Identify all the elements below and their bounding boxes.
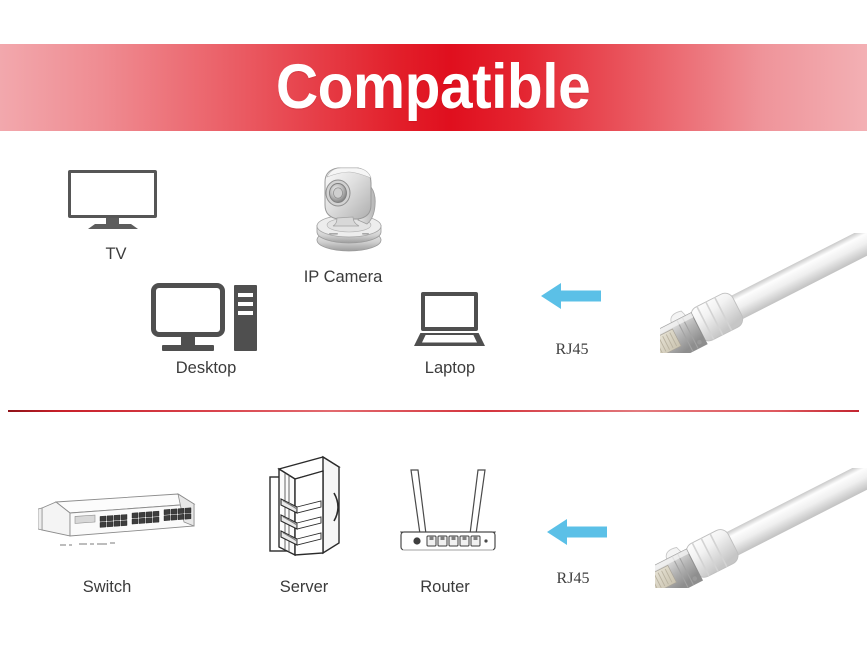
device-label-tv: TV [66,245,166,264]
device-label-switch: Switch [57,578,157,597]
page-title: Compatible [276,56,590,119]
desktop-monitor-base [162,345,214,351]
device-server [265,455,345,565]
desktop-tower-icon [234,285,257,351]
server-rack-icon [265,455,345,565]
device-laptop [414,292,489,350]
device-label-server: Server [254,578,354,597]
desktop-monitor-neck [181,337,195,345]
arrow-left-icon-top [541,281,601,311]
device-label-laptop: Laptop [400,359,500,378]
network-switch-icon [38,488,198,558]
tv-stand-neck [106,218,119,224]
laptop-base [414,333,485,346]
ip-camera-icon [305,160,390,255]
tv-stand-base [88,224,138,229]
device-label-desktop: Desktop [156,359,256,378]
connector-label-rj45-top: RJ45 [522,341,622,359]
device-router [393,460,503,560]
rj45-cable-icon-top [660,233,867,353]
device-desktop [151,283,261,353]
connector-label-rj45-bottom: RJ45 [523,570,623,588]
tv-icon [68,170,157,218]
desktop-monitor-icon [151,283,225,337]
device-label-router: Router [395,578,495,597]
wifi-router-icon [393,460,503,560]
compatible-banner: Compatible [0,44,867,131]
device-label-ip-camera: IP Camera [253,268,433,287]
device-switch [38,488,198,558]
rj45-cable-icon-bottom [655,468,867,588]
device-tv [68,170,163,230]
arrow-left-icon-bottom [547,517,607,547]
section-divider [8,410,859,412]
laptop-screen-icon [421,292,478,331]
device-ip-camera [305,160,390,255]
